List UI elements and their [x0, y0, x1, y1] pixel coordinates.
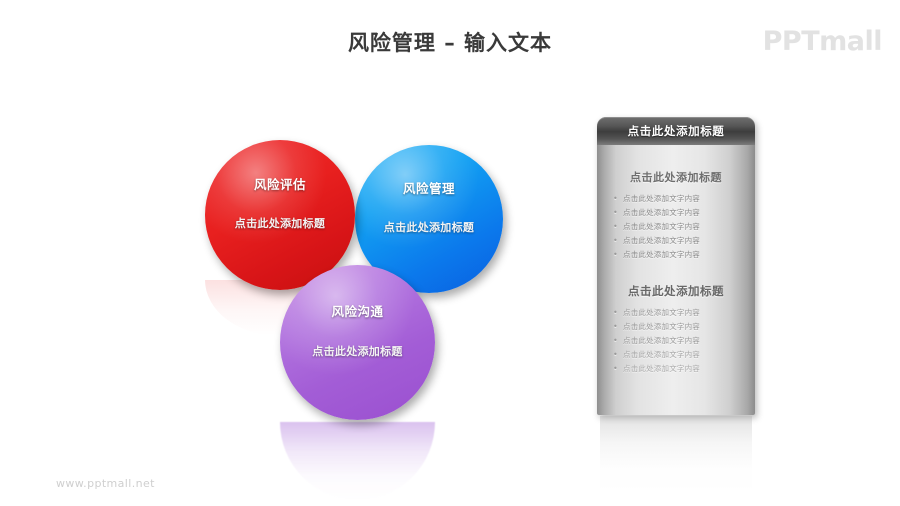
panel-body: 点击此处添加标题 •点击此处添加文字内容 •点击此处添加文字内容 •点击此处添加… — [597, 145, 755, 415]
list-item[interactable]: •点击此处添加文字内容 — [597, 337, 755, 345]
panel-section-1: 点击此处添加标题 •点击此处添加文字内容 •点击此处添加文字内容 •点击此处添加… — [597, 145, 755, 259]
footer-watermark: www.pptmall.net — [56, 477, 155, 490]
bullet-dot-icon: • — [613, 309, 623, 317]
list-item-label: 点击此处添加文字内容 — [623, 351, 700, 359]
bullet-dot-icon: • — [613, 337, 623, 345]
section-bullet-list: •点击此处添加文字内容 •点击此处添加文字内容 •点击此处添加文字内容 •点击此… — [597, 195, 755, 259]
circle-subtitle: 点击此处添加标题 — [312, 343, 402, 359]
circle-risk-communication[interactable]: 风险沟通 点击此处添加标题 — [280, 265, 435, 420]
bullet-dot-icon: • — [613, 195, 623, 203]
circle-subtitle: 点击此处添加标题 — [384, 219, 474, 235]
bullet-dot-icon: • — [613, 251, 623, 259]
slide-canvas: 风险管理 – 输入文本 PPTmall 风险评估 点击此处添加标题 风险管理 点… — [0, 0, 900, 506]
list-item[interactable]: •点击此处添加文字内容 — [597, 237, 755, 245]
section-bullet-list: •点击此处添加文字内容 •点击此处添加文字内容 •点击此处添加文字内容 •点击此… — [597, 309, 755, 373]
list-item-label: 点击此处添加文字内容 — [623, 195, 700, 203]
list-item[interactable]: •点击此处添加文字内容 — [597, 309, 755, 317]
list-item-label: 点击此处添加文字内容 — [623, 251, 700, 259]
list-item-label: 点击此处添加文字内容 — [623, 209, 700, 217]
list-item-label: 点击此处添加文字内容 — [623, 237, 700, 245]
bullet-dot-icon: • — [613, 365, 623, 373]
list-item[interactable]: •点击此处添加文字内容 — [597, 195, 755, 203]
purple-circle-reflection — [280, 422, 435, 500]
section-title[interactable]: 点击此处添加标题 — [597, 169, 755, 185]
list-item-label: 点击此处添加文字内容 — [623, 309, 700, 317]
circle-risk-assessment[interactable]: 风险评估 点击此处添加标题 — [205, 140, 355, 290]
bullet-dot-icon: • — [613, 223, 623, 231]
venn-circle-group: 风险评估 点击此处添加标题 风险管理 点击此处添加标题 风险沟通 点击此处添加标… — [195, 130, 535, 430]
list-item-label: 点击此处添加文字内容 — [623, 223, 700, 231]
pptmall-logo: PPTmall — [763, 26, 882, 57]
panel-header[interactable]: 点击此处添加标题 — [597, 117, 755, 145]
list-item-label: 点击此处添加文字内容 — [623, 323, 700, 331]
panel-reflection — [600, 416, 752, 494]
list-item[interactable]: •点击此处添加文字内容 — [597, 209, 755, 217]
circle-title: 风险沟通 — [331, 301, 383, 320]
panel-header-label: 点击此处添加标题 — [628, 123, 725, 139]
panel-frame: 点击此处添加标题 点击此处添加标题 •点击此处添加文字内容 •点击此处添加文字内… — [597, 117, 755, 415]
bullet-dot-icon: • — [613, 351, 623, 359]
bullet-dot-icon: • — [613, 323, 623, 331]
list-item[interactable]: •点击此处添加文字内容 — [597, 251, 755, 259]
panel-section-2: 点击此处添加标题 •点击此处添加文字内容 •点击此处添加文字内容 •点击此处添加… — [597, 265, 755, 373]
text-panel: 点击此处添加标题 点击此处添加标题 •点击此处添加文字内容 •点击此处添加文字内… — [597, 117, 755, 417]
section-title[interactable]: 点击此处添加标题 — [597, 283, 755, 299]
list-item[interactable]: •点击此处添加文字内容 — [597, 351, 755, 359]
circle-title: 风险管理 — [403, 178, 455, 197]
list-item-label: 点击此处添加文字内容 — [623, 337, 700, 345]
circle-subtitle: 点击此处添加标题 — [235, 215, 325, 231]
list-item[interactable]: •点击此处添加文字内容 — [597, 223, 755, 231]
circle-title: 风险评估 — [254, 174, 306, 193]
list-item-label: 点击此处添加文字内容 — [623, 365, 700, 373]
list-item[interactable]: •点击此处添加文字内容 — [597, 323, 755, 331]
bullet-dot-icon: • — [613, 237, 623, 245]
list-item[interactable]: •点击此处添加文字内容 — [597, 365, 755, 373]
bullet-dot-icon: • — [613, 209, 623, 217]
